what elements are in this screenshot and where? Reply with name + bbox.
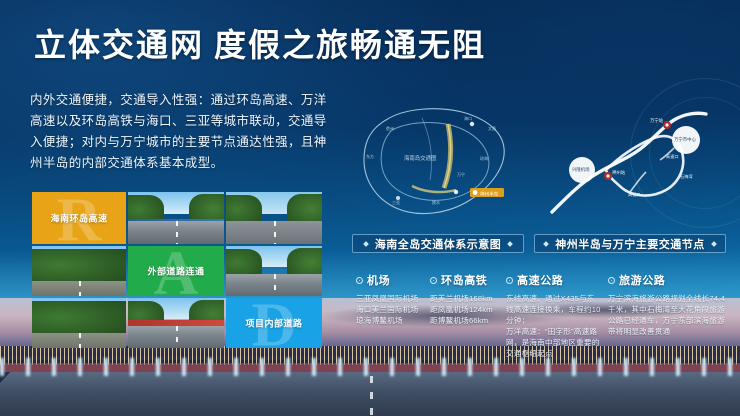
svg-text:海口: 海口 <box>464 115 472 121</box>
svg-text:儋州: 儋州 <box>386 125 394 131</box>
svg-text:高速口: 高速口 <box>666 153 679 160</box>
info-column-tourism-road-title: 旅游公路 <box>619 272 665 288</box>
diamond-icon <box>363 241 369 247</box>
collage-photo-park-path <box>32 298 126 348</box>
page-title: 立体交通网 度假之旅畅通无阻 <box>34 20 486 66</box>
svg-text:陵水: 陵水 <box>432 199 440 205</box>
collage-photo-flag-road <box>128 298 224 348</box>
shenzhou-peninsula-map-svg: 万宁站 神州站 万宁市中心 兴隆机场 高速口 石梅湾 高速口 <box>534 100 726 228</box>
info-column-airport-line-3: 琼海博鳌机场 <box>356 315 428 326</box>
photo-roadway <box>32 333 126 348</box>
svg-text:兴隆机场: 兴隆机场 <box>572 166 590 173</box>
photo-roadway <box>32 281 126 296</box>
info-column-hsr-title: 环岛高铁 <box>441 272 487 288</box>
svg-text:石梅湾: 石梅湾 <box>680 173 693 180</box>
shenzhou-peninsula-map[interactable]: 万宁站 神州站 万宁市中心 兴隆机场 高速口 石梅湾 高速口 <box>534 100 726 228</box>
circle-bullet-icon <box>430 277 437 284</box>
shenzhou-map-caption: 神州半岛与万宁主要交通节点 <box>534 234 726 253</box>
info-column-expressway-line-2: 万洋高速：“田字形”高速路网，是海南中部地区重要的交通枢纽起点 <box>506 326 602 359</box>
svg-text:三亚: 三亚 <box>392 200 400 205</box>
info-column-tourism-road-line-1: 万宁滨海旅游公路规划全线长74.4千米，其中石梅湾至大花角段旅游公路已经通车，万… <box>608 293 726 337</box>
svg-text:琼海: 琼海 <box>480 155 488 161</box>
collage-tile-external-roads-label: 外部道路连通 <box>147 265 204 278</box>
svg-text:神州站: 神州站 <box>612 169 626 176</box>
svg-text:东方: 东方 <box>366 153 374 159</box>
road-photo-collage: R 海南环岛高速 A 外部道路连通 <box>32 192 318 344</box>
diamond-icon <box>507 241 513 247</box>
info-column-hsr-line-2: 距凤凰机场124km <box>430 304 504 315</box>
collage-photo-avenue <box>32 246 126 296</box>
circle-bullet-icon <box>356 277 363 284</box>
circle-bullet-icon <box>608 277 615 284</box>
photo-street-lamps <box>0 358 740 376</box>
info-column-tourism-road-header: 旅游公路 <box>608 272 726 288</box>
photo-roadway <box>226 221 322 244</box>
photo-trees-left <box>32 249 126 285</box>
info-column-expressway-title: 高速公路 <box>517 272 563 288</box>
collage-tile-highway[interactable]: R 海南环岛高速 <box>32 192 126 244</box>
svg-text:万宁站: 万宁站 <box>650 117 664 124</box>
collage-tile-external-roads[interactable]: A 外部道路连通 <box>128 246 224 296</box>
svg-text:万宁市中心: 万宁市中心 <box>674 136 697 143</box>
circle-bullet-icon <box>506 277 513 284</box>
photo-roadway <box>128 221 224 244</box>
info-column-tourism-road: 旅游公路 万宁滨海旅游公路规划全线长74.4千米，其中石梅湾至大花角段旅游公路已… <box>608 272 726 337</box>
collage-photo-boulevard <box>226 246 322 296</box>
info-column-expressway: 高速公路 东线高速、通过X435与东线高速连接换乘，车程约10分钟； 万洋高速：… <box>506 272 602 359</box>
info-column-expressway-header: 高速公路 <box>506 272 602 288</box>
info-column-airport-line-1: 三亚凤凰国际机场 <box>356 293 428 304</box>
hainan-map-caption-text: 海南全岛交通体系示意图 <box>375 236 502 252</box>
diamond-icon <box>543 241 549 247</box>
hainan-island-map[interactable]: 神州半岛 海南岛交通图 海口 文昌 琼海 万宁 陵水 三亚 东方 儋州 <box>352 100 524 228</box>
info-column-hsr-line-3: 距博鳌机场66km <box>430 315 504 326</box>
hainan-map-caption: 海南全岛交通体系示意图 <box>352 234 524 253</box>
collage-photo-expressway <box>128 192 224 244</box>
info-column-hsr-line-1: 距美兰机场168km <box>430 293 504 304</box>
collage-photo-expressway-2 <box>226 192 322 244</box>
intro-paragraph: 内外交通便捷，交通导入性强：通过环岛高速、万洋高速以及环岛高铁与海口、三亚等城市… <box>30 90 330 174</box>
slide-canvas: 立体交通网 度假之旅畅通无阻 内外交通便捷，交通导入性强：通过环岛高速、万洋高速… <box>0 0 740 416</box>
svg-text:万宁: 万宁 <box>457 171 465 177</box>
diamond-icon <box>711 241 717 247</box>
photo-lane-marking <box>370 376 373 416</box>
info-column-hsr-header: 环岛高铁 <box>430 272 504 288</box>
shenzhou-map-caption-text: 神州半岛与万宁主要交通节点 <box>555 236 705 252</box>
photo-roadway <box>226 274 322 296</box>
collage-tile-internal-roads[interactable]: D 项目内部道路 <box>226 298 322 348</box>
info-column-airport-header: 机场 <box>356 272 428 288</box>
svg-text:高速口: 高速口 <box>628 191 641 198</box>
collage-tile-highway-label: 海南环岛高速 <box>50 212 107 225</box>
info-column-hsr: 环岛高铁 距美兰机场168km 距凤凰机场124km 距博鳌机场66km <box>430 272 504 326</box>
svg-text:文昌: 文昌 <box>488 125 496 131</box>
svg-text:神州半岛: 神州半岛 <box>480 191 499 198</box>
info-column-airport-title: 机场 <box>367 272 390 288</box>
svg-text:海南岛交通图: 海南岛交通图 <box>404 154 436 162</box>
info-column-airport: 机场 三亚凤凰国际机场 海口美兰国际机场 琼海博鳌机场 <box>356 272 428 326</box>
collage-tile-internal-roads-label: 项目内部道路 <box>245 317 302 330</box>
hainan-island-map-svg: 神州半岛 海南岛交通图 海口 文昌 琼海 万宁 陵水 三亚 东方 儋州 <box>352 100 524 228</box>
photo-trees-left <box>32 301 126 337</box>
info-column-airport-line-2: 海口美兰国际机场 <box>356 304 428 315</box>
photo-roadway <box>128 326 224 348</box>
info-column-expressway-line-1: 东线高速、通过X435与东线高速连接换乘，车程约10分钟； <box>506 293 602 326</box>
